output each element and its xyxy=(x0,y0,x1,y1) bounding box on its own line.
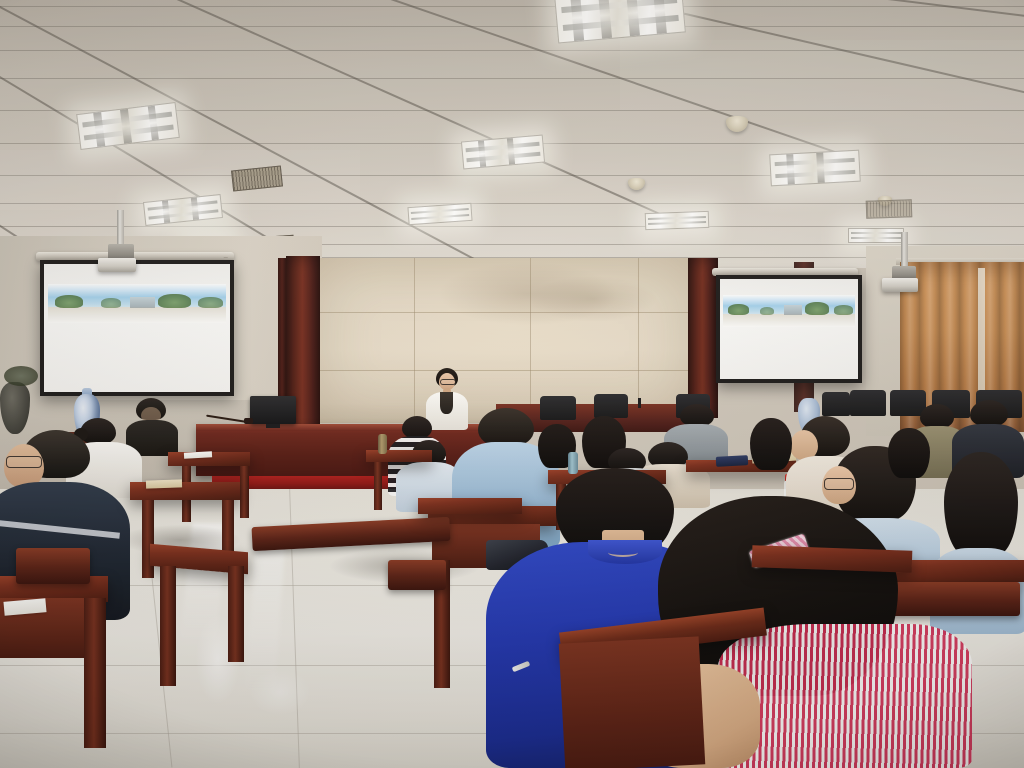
monitor-stand xyxy=(266,424,280,428)
projector-right xyxy=(882,278,918,292)
attendee-dark-mid-right xyxy=(744,418,798,480)
ceiling-sprinkler-icon xyxy=(726,116,748,132)
desk-leg xyxy=(240,466,249,518)
vacuum-thermos xyxy=(378,434,387,454)
ceiling-light xyxy=(848,228,904,243)
desk-leg xyxy=(142,500,154,578)
projection-screen-left xyxy=(40,260,234,396)
projector-mount-pole-right xyxy=(901,232,908,266)
desk-leg xyxy=(84,598,106,748)
desk-leg xyxy=(160,566,176,686)
black-office-chair xyxy=(850,390,886,416)
wooden-desk-row xyxy=(366,450,432,462)
black-office-chair xyxy=(594,394,628,418)
eyeglasses-icon xyxy=(824,478,854,490)
desk-leg xyxy=(374,462,382,510)
wooden-desk-row xyxy=(418,498,522,514)
ceiling-light xyxy=(645,211,710,230)
attendee-black-hair-right-rear xyxy=(884,428,934,482)
decorative-branch xyxy=(4,366,38,386)
slide-image-left xyxy=(48,284,227,322)
ceiling xyxy=(0,0,1024,268)
ceiling-light xyxy=(461,134,545,169)
desk-leg xyxy=(228,566,244,662)
slide-image-right xyxy=(723,295,856,327)
front-wall-panel xyxy=(318,258,690,423)
air-vent-grille xyxy=(866,199,913,219)
ceiling-light xyxy=(554,0,686,43)
presenter-monitor xyxy=(250,396,296,424)
eyeglasses-icon xyxy=(6,456,42,468)
wooden-chair-back xyxy=(388,560,446,590)
eyeglasses-icon xyxy=(440,379,456,385)
head-table-microphone xyxy=(638,398,641,408)
photograph-conference-room: — xyxy=(0,0,1024,768)
black-office-chair xyxy=(822,392,850,416)
ceiling-light xyxy=(407,203,472,225)
manila-folder xyxy=(146,479,182,488)
microphone-base xyxy=(244,418,253,424)
projector-left xyxy=(98,258,136,272)
projection-screen-right xyxy=(716,275,862,383)
wooden-chair-back xyxy=(16,548,90,584)
ceiling-light xyxy=(769,150,861,187)
foreground-desk-front xyxy=(559,636,706,768)
projector-mount-pole-left xyxy=(117,210,124,244)
ceiling-sprinkler-icon xyxy=(628,178,645,190)
